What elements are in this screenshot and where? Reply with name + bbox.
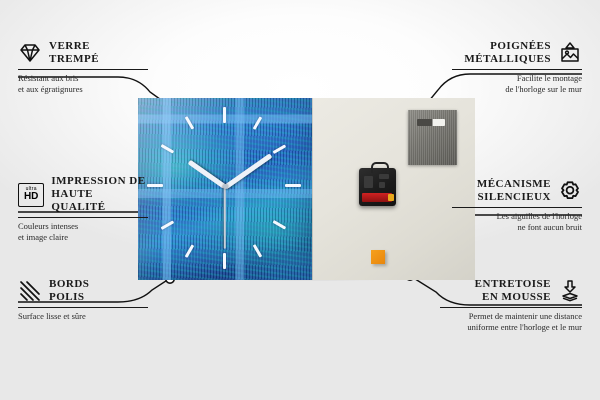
callout-divider: [18, 307, 148, 308]
callout-divider: [18, 69, 148, 70]
callout-subtitle-line1: Les aiguilles de l'horloge: [452, 211, 582, 222]
callout-title-line1: POIGNÉES: [464, 40, 551, 53]
clock-center-pin: [223, 184, 228, 189]
callout-subtitle-line2: et image claire: [18, 232, 148, 243]
callout-tempered-glass[interactable]: VERRE TREMPÉ Résistant aux bris et aux é…: [18, 40, 148, 95]
gear-icon: [558, 179, 582, 203]
callout-divider: [452, 69, 582, 70]
callout-title-line1: BORDS: [49, 278, 89, 291]
clock-face-panel: [138, 98, 312, 280]
product-feature-infographic: VERRE TREMPÉ Résistant aux bris et aux é…: [0, 0, 600, 400]
hour-tick: [253, 116, 262, 129]
callout-metal-handles[interactable]: POIGNÉES MÉTALLIQUES Facilite le montage…: [452, 40, 582, 95]
battery-positive-terminal: [388, 194, 394, 201]
hour-tick: [185, 116, 194, 129]
hour-tick: [161, 220, 174, 229]
callout-title-line2: MÉTALLIQUES: [464, 53, 551, 66]
hour-tick: [161, 144, 174, 153]
hour-tick: [253, 244, 262, 257]
diagonal-lines-icon: [18, 279, 42, 303]
callout-title-line2: EN MOUSSE: [475, 291, 551, 304]
wall-clock-product: [138, 98, 474, 280]
callout-subtitle-line2: uniforme entre l'horloge et le mur: [440, 322, 582, 333]
hanger-loop-icon: [371, 162, 389, 173]
callout-silent-mechanism[interactable]: MÉCANISME SILENCIEUX Les aiguilles de l'…: [452, 178, 582, 233]
foam-spacer: [371, 250, 385, 264]
callout-title-line2: HAUTE QUALITÉ: [51, 188, 148, 214]
callout-title-line1: ENTRETOISE: [475, 278, 551, 291]
picture-frame-hanger-icon: [558, 41, 582, 65]
callout-subtitle-line2: et aux égratignures: [18, 84, 148, 95]
clock-minute-hand: [224, 153, 272, 189]
callout-print-quality[interactable]: ultra HD IMPRESSION DE HAUTE QUALITÉ Cou…: [18, 175, 148, 243]
hanger-slot: [417, 119, 445, 126]
callout-subtitle-line1: Facilite le montage: [452, 73, 582, 84]
callout-divider: [440, 307, 582, 308]
mechanism-detail: [379, 182, 385, 188]
callout-title-line2: TREMPÉ: [49, 53, 99, 66]
clock-second-hand: [224, 187, 226, 249]
callout-title-line1: VERRE: [49, 40, 99, 53]
arrow-down-layers-icon: [558, 279, 582, 303]
metal-hanger-plate: [408, 110, 457, 165]
callout-subtitle-line1: Surface lisse et sûre: [18, 311, 148, 322]
callout-subtitle-line2: de l'horloge sur le mur: [452, 84, 582, 95]
callout-polished-edges[interactable]: BORDS POLIS Surface lisse et sûre: [18, 278, 148, 322]
callout-title-line1: IMPRESSION DE: [51, 175, 148, 188]
callout-subtitle-line2: ne font aucun bruit: [452, 222, 582, 233]
callout-title-line1: MÉCANISME: [477, 178, 551, 191]
clock-hour-hand: [188, 160, 227, 189]
callout-title-line2: SILENCIEUX: [477, 191, 551, 204]
callout-subtitle-line1: Résistant aux bris: [18, 73, 148, 84]
hour-tick: [185, 244, 194, 257]
hour-tick: [273, 220, 286, 229]
callout-divider: [18, 217, 148, 218]
clock-back-panel: [312, 98, 475, 280]
hour-tick: [223, 107, 226, 123]
hour-tick: [223, 253, 226, 269]
callout-subtitle-line1: Couleurs intenses: [18, 221, 148, 232]
callout-title-line2: POLIS: [49, 291, 89, 304]
diamond-icon: [18, 41, 42, 65]
callout-subtitle-line1: Permet de maintenir une distance: [440, 311, 582, 322]
hour-tick: [273, 144, 286, 153]
clock-mechanism-box: [359, 168, 396, 206]
callout-divider: [452, 207, 582, 208]
ultra-hd-icon: ultra HD: [18, 183, 44, 207]
mechanism-detail: [379, 174, 389, 179]
mechanism-detail: [364, 176, 373, 188]
ultra-hd-large-label: HD: [24, 192, 38, 202]
hour-tick: [147, 184, 163, 187]
callout-foam-spacer[interactable]: ENTRETOISE EN MOUSSE Permet de maintenir…: [440, 278, 582, 333]
hour-tick: [285, 184, 301, 187]
